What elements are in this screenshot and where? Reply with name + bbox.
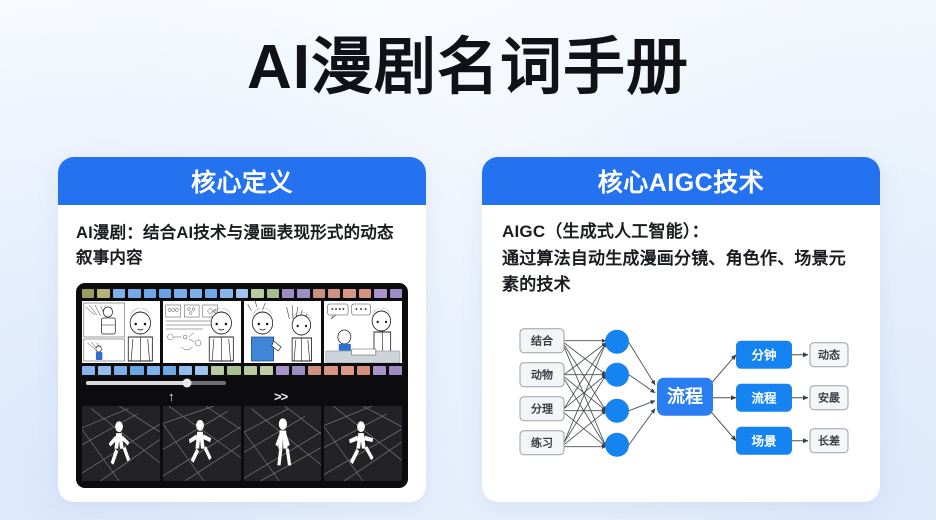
diagram-hidden-nodes [605, 329, 629, 456]
panel-conversation [244, 301, 322, 363]
timeline-cues: ↑ >> [82, 391, 402, 406]
center-node-label: 流程 [667, 385, 703, 406]
page-title: AI漫剧名词手册 [0, 34, 936, 102]
mid-node-label-0: 分钟 [751, 347, 776, 362]
film-sprockets-top [82, 289, 402, 298]
input-node-label-2: 分理 [531, 401, 553, 415]
output-node-label-2: 长差 [818, 433, 840, 447]
input-node-label-3: 练习 [531, 435, 553, 449]
panel-table [324, 301, 402, 363]
card-body-core-definition: AI漫剧：结合AI技术与漫画表现形式的动态叙事内容 [58, 205, 426, 502]
card-header-core-definition: 核心定义 [58, 157, 426, 205]
comic-film-strip: ↑ >> [76, 283, 408, 488]
walk-cycle-row [82, 406, 402, 481]
card-header-core-aigc-technology: 核心AIGC技术 [482, 157, 880, 205]
timeline-scrubber[interactable] [82, 375, 402, 391]
scrubber-handle[interactable] [182, 379, 191, 388]
scrubber-track[interactable] [86, 381, 226, 385]
card-core-definition: 核心定义 AI漫剧：结合AI技术与漫画表现形式的动态叙事内容 [58, 157, 426, 502]
card-body-core-aigc-technology: AIGC（生成式人工智能）： 通过算法自动生成漫画分镜、角色作、场景元素的技术 [482, 205, 880, 502]
core-definition-description: AI漫剧：结合AI技术与漫画表现形式的动态叙事内容 [76, 221, 408, 271]
hidden-node-0 [605, 329, 629, 353]
scrubber-fill [86, 381, 190, 385]
output-node-label-1: 安晸 [818, 390, 841, 404]
hidden-node-2 [605, 398, 629, 422]
card-core-aigc-technology: 核心AIGC技术 AIGC（生成式人工智能）： 通过算法自动生成漫画分镜、角色作… [482, 157, 880, 502]
walk-frame-3 [244, 406, 322, 481]
diagram-mid-nodes: 分钟 流程 场景 [736, 340, 792, 454]
film-sprockets-bottom [82, 366, 402, 375]
aigc-description: AIGC（生成式人工智能）： 通过算法自动生成漫画分镜、角色作、场景元素的技术 [502, 219, 860, 299]
output-node-label-0: 动态 [818, 347, 840, 361]
input-node-label-1: 动物 [531, 367, 553, 381]
cue-fast-forward-icon: >> [274, 389, 287, 404]
cue-up-arrow-icon: ↑ [168, 389, 175, 404]
walk-frame-2 [163, 406, 241, 481]
comic-panel-row [82, 301, 402, 363]
mid-node-label-1: 流程 [751, 390, 777, 405]
diagram-input-nodes: 结合 动物 分理 练习 [520, 328, 564, 454]
panel-whiteboard [163, 301, 241, 363]
input-node-label-0: 结合 [530, 333, 554, 347]
mid-node-label-2: 场景 [751, 434, 777, 448]
diagram-output-nodes: 动态 安晸 长差 [810, 342, 848, 452]
neural-network-flow-diagram: 结合 动物 分理 练习 流程 [502, 305, 860, 490]
hidden-node-3 [605, 432, 629, 456]
hidden-node-1 [605, 362, 629, 386]
panel-newsroom [82, 301, 160, 363]
walk-frame-4 [324, 406, 402, 481]
walk-frame-1 [82, 406, 160, 481]
diagram-center-node: 流程 [657, 377, 713, 415]
